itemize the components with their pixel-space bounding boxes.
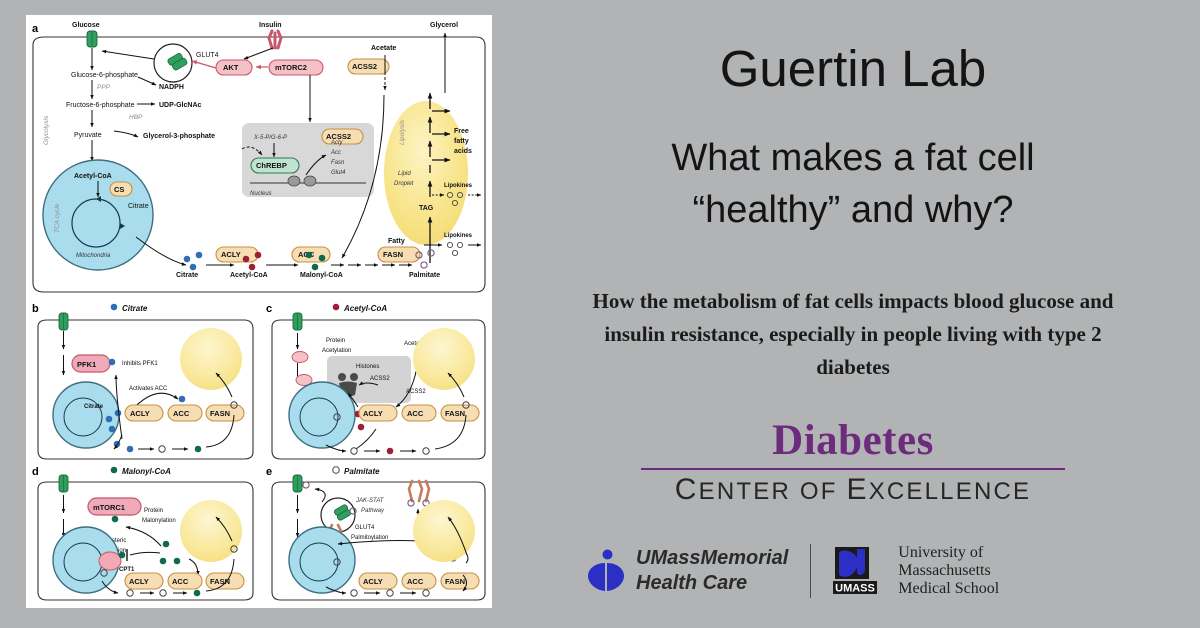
label-fasn-c: FASN xyxy=(445,409,465,418)
label-udp-glcnac: UDP-GlcNAc xyxy=(159,102,202,109)
label-ppp: PPP xyxy=(97,84,111,91)
panel-a-letter: a xyxy=(32,23,39,35)
label-lipokines-2: Lipokines xyxy=(444,233,473,239)
umass-medical-school-logo: UMASS University of Massachusetts Medica… xyxy=(831,544,999,598)
umass-medical-wordmark: University of Massachusetts Medical Scho… xyxy=(898,544,999,598)
umass-block-text: UMASS xyxy=(835,583,875,595)
label-chrebp: ChREBP xyxy=(256,161,287,170)
page-title: Guertin Lab xyxy=(506,40,1200,98)
label-fasn-e: FASN xyxy=(445,577,465,586)
panel-d-letter: d xyxy=(32,466,39,478)
label-acetate: Acetate xyxy=(371,45,396,52)
label-citrate-cyto: Citrate xyxy=(176,272,198,279)
label-acc-c: ACC xyxy=(407,409,424,418)
umass-memorial-flower-icon xyxy=(586,549,626,593)
panel-c-letter: c xyxy=(266,303,272,315)
legend-acetyl-coa: Acetyl-CoA xyxy=(343,304,387,313)
label-fasn-gene: Fasn xyxy=(331,160,345,166)
ums-line-1: University of xyxy=(898,544,999,562)
label-tag: TAG xyxy=(419,205,434,212)
label-nucleus: Nucleus xyxy=(250,191,272,197)
label-acss2-c2: ACSS2 xyxy=(406,389,426,395)
label-mitochondria: Mitochondria xyxy=(76,253,111,259)
label-f6p: Fructose-6-phosphate xyxy=(66,102,135,109)
scientific-figure-panel: a Glucose Insulin Glycerol GLUT4 AKT mTO… xyxy=(26,15,492,608)
label-x5p-g6p: X-5-P/G-6-P xyxy=(253,135,287,141)
label-hbp: HBP xyxy=(129,114,143,121)
dcoe-subtitle: CENTER OF EXCELLENCE xyxy=(623,476,1083,506)
legend-malonyl-coa: Malonyl-CoA xyxy=(122,467,171,476)
label-fasn: FASN xyxy=(383,250,403,259)
label-free-fatty-acids-2: fatty xyxy=(454,138,469,145)
legend-dot-malonyl-coa xyxy=(111,467,118,474)
label-fasn-b: FASN xyxy=(210,409,230,418)
label-glut4-palm-1: GLUT4 xyxy=(355,525,375,531)
legend-dot-acetyl-coa xyxy=(333,304,340,311)
label-acetyl-coa-cyto: Acetyl-CoA xyxy=(230,272,268,279)
label-glut4-palm-2: Palmitoylation xyxy=(351,535,388,541)
label-nadph: NADPH xyxy=(159,84,184,91)
label-palmitate: Palmitate xyxy=(409,272,440,279)
label-activates-acc: Activates ACC xyxy=(129,386,168,392)
label-mtorc2: mTORC2 xyxy=(275,63,307,72)
label-citrate-mito: Citrate xyxy=(128,203,149,210)
description-text: How the metabolism of fat cells impacts … xyxy=(566,285,1140,384)
ums-line-3: Medical School xyxy=(898,580,999,598)
legend-citrate: Citrate xyxy=(122,304,148,313)
label-acss2-c1: ACSS2 xyxy=(370,376,390,382)
label-protein-acetylation-2: Acetylation xyxy=(322,348,351,354)
label-acly: ACLY xyxy=(221,250,241,259)
label-free-fatty-acids-1: Free xyxy=(454,128,469,135)
label-pyruvate: Pyruvate xyxy=(74,132,102,139)
label-acc-d: ACC xyxy=(172,577,189,586)
label-acc-b: ACC xyxy=(173,409,190,418)
label-citrate-b: Citrate xyxy=(84,404,104,410)
label-glut4-gene: Glut4 xyxy=(331,170,346,176)
label-glut4: GLUT4 xyxy=(196,52,219,59)
label-mtorc1: mTORC1 xyxy=(93,503,125,512)
label-protein-acetylation-1: Protein xyxy=(326,338,345,344)
label-cs: CS xyxy=(114,185,124,194)
pathway-figure: a Glucose Insulin Glycerol GLUT4 AKT mTO… xyxy=(26,15,492,608)
label-jak-stat-1: JAK-STAT xyxy=(355,498,385,504)
headline: What makes a fat cell “healthy” and why? xyxy=(506,132,1200,236)
label-acly-gene: Acly xyxy=(330,140,343,146)
label-lipokines-1: Lipokines xyxy=(444,183,473,189)
umm-line-2: Health Care xyxy=(636,571,788,596)
label-acly-b: ACLY xyxy=(130,409,150,418)
panel-b-letter: b xyxy=(32,303,39,315)
label-acc-gene: Acc xyxy=(330,150,341,156)
label-fatty-acids-1: Fatty xyxy=(388,238,405,245)
label-lipolysis: Lipolysis xyxy=(399,119,406,145)
label-glucose: Glucose xyxy=(72,22,100,29)
label-acly-d: ACLY xyxy=(129,577,149,586)
label-g3p: Glycerol-3-phosphate xyxy=(143,133,215,140)
umass-memorial-logo: UMassMemorial Health Care xyxy=(586,546,788,596)
diabetes-center-of-excellence-logo: Diabetes CENTER OF EXCELLENCE xyxy=(623,418,1083,506)
label-protein-malonylation-1: Protein xyxy=(144,508,163,514)
label-malonyl-coa: Malonyl-CoA xyxy=(300,272,343,279)
partner-logo-row: UMassMemorial Health Care UMASS Universi… xyxy=(586,533,1126,609)
label-akt: AKT xyxy=(223,63,239,72)
label-glycolysis: Glycolysis xyxy=(43,115,50,145)
label-free-fatty-acids-3: acids xyxy=(454,148,472,155)
label-acss2-top: ACSS2 xyxy=(352,62,377,71)
umm-line-1: UMassMemorial xyxy=(636,546,788,571)
panel-e-letter: e xyxy=(266,466,272,478)
label-acly-c: ACLY xyxy=(363,409,383,418)
headline-line-2: “healthy” and why? xyxy=(506,184,1200,236)
dcoe-sub-e: E xyxy=(846,473,868,506)
headline-line-1: What makes a fat cell xyxy=(506,132,1200,184)
label-tca-cycle: TCA cycle xyxy=(54,203,61,233)
label-acetyl-coa-mito: Acetyl-CoA xyxy=(74,173,112,180)
umass-block-icon: UMASS xyxy=(831,545,891,597)
label-lipid-droplet-1: Lipid xyxy=(398,171,411,177)
label-inhibits-pfk1: Inhibits PFK1 xyxy=(122,361,158,367)
label-jak-stat-2: Pathway xyxy=(361,508,385,514)
label-protein-malonylation-2: Malonylation xyxy=(142,518,176,524)
legend-palmitate: Palmitate xyxy=(344,467,380,476)
label-acly-e: ACLY xyxy=(363,577,383,586)
dcoe-sub-c: C xyxy=(675,473,699,506)
label-histones: Histones xyxy=(356,364,379,370)
label-acc-e: ACC xyxy=(407,577,424,586)
label-lipid-droplet-2: Droplet xyxy=(394,181,414,187)
dcoe-sub-enter-of: ENTER OF xyxy=(699,478,847,505)
logo-divider xyxy=(810,544,811,598)
label-pfk1: PFK1 xyxy=(77,360,96,369)
label-insulin: Insulin xyxy=(259,22,282,29)
dcoe-wordmark: Diabetes xyxy=(623,418,1083,464)
insulin-receptor-icon xyxy=(269,31,281,48)
label-cpt1: CPT1 xyxy=(119,567,135,573)
umass-memorial-wordmark: UMassMemorial Health Care xyxy=(636,546,788,596)
label-g6p: Glucose-6-phosphate xyxy=(71,72,138,79)
dcoe-divider-rule xyxy=(641,468,1065,470)
ums-line-2: Massachusetts xyxy=(898,562,999,580)
label-glycerol: Glycerol xyxy=(430,22,458,29)
content-column: Guertin Lab What makes a fat cell “healt… xyxy=(506,0,1200,628)
dcoe-sub-xcellence: XCELLENCE xyxy=(869,478,1032,505)
legend-dot-citrate xyxy=(111,304,118,311)
